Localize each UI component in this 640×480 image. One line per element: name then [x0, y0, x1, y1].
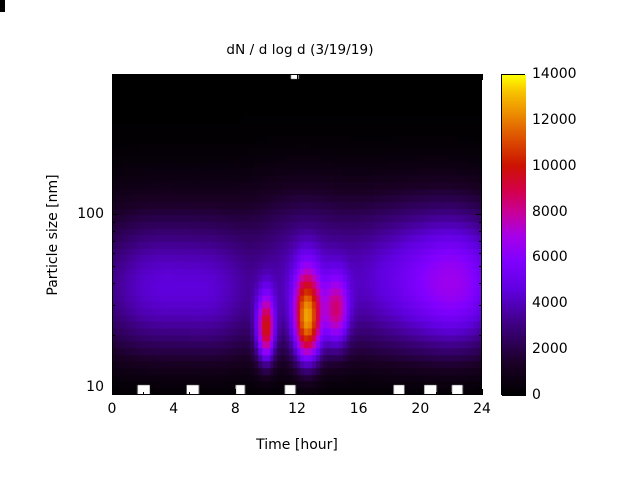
y-tick-minor-right	[479, 94, 482, 95]
y-tick-minor	[112, 132, 115, 133]
x-tick-major	[235, 389, 236, 395]
x-tick-minor	[436, 392, 437, 395]
y-axis-label: Particle size [nm]	[45, 135, 61, 335]
colorbar-tick-label: 6000	[532, 249, 568, 265]
x-tick-major	[482, 389, 483, 395]
x-tick-minor-top	[282, 74, 283, 77]
y-tick-minor	[112, 94, 115, 95]
x-tick-minor-top	[328, 74, 329, 77]
x-tick-minor-top	[374, 74, 375, 77]
x-tick-minor	[451, 392, 452, 395]
y-tick-label: 10	[60, 379, 104, 395]
y-tick-minor	[112, 222, 115, 223]
y-tick-minor	[112, 162, 115, 163]
y-tick-label: 100	[60, 206, 104, 222]
y-tick-minor-right	[479, 80, 482, 81]
heatmap-plot-area[interactable]	[112, 74, 482, 395]
colorbar-tick-label: 8000	[532, 204, 568, 220]
x-tick-minor-top	[312, 74, 313, 77]
y-tick-minor	[112, 241, 115, 242]
y-tick-major-right	[476, 387, 482, 388]
x-tick-minor-top	[220, 74, 221, 77]
x-tick-major	[174, 389, 175, 395]
y-tick-minor-right	[479, 162, 482, 163]
colorbar-tick-label: 2000	[532, 341, 568, 357]
y-tick-minor-right	[479, 222, 482, 223]
plot-title: dN / d log d (3/19/19)	[0, 42, 600, 58]
x-tick-minor	[467, 392, 468, 395]
x-tick-minor-top	[405, 74, 406, 77]
y-tick-minor-right	[479, 305, 482, 306]
x-tick-minor-top	[343, 74, 344, 77]
y-tick-minor-right	[479, 266, 482, 267]
x-tick-minor-top	[436, 74, 437, 77]
y-tick-major	[112, 387, 118, 388]
x-tick-major-top	[297, 74, 298, 80]
x-tick-major-top	[359, 74, 360, 80]
x-tick-label: 20	[411, 401, 429, 417]
x-tick-label: 4	[169, 401, 178, 417]
x-tick-minor	[127, 392, 128, 395]
x-tick-minor	[143, 392, 144, 395]
colorbar-tick-label: 12000	[532, 112, 577, 128]
y-tick-minor	[112, 110, 115, 111]
colorbar-tick-label: 14000	[532, 66, 577, 82]
x-tick-minor	[390, 392, 391, 395]
x-tick-minor	[158, 392, 159, 395]
x-tick-minor-top	[189, 74, 190, 77]
heatmap-image	[113, 75, 481, 394]
x-tick-minor	[328, 392, 329, 395]
x-axis-label: Time [hour]	[112, 437, 482, 453]
x-tick-minor	[220, 392, 221, 395]
x-tick-label: 0	[108, 401, 117, 417]
x-tick-minor-top	[143, 74, 144, 77]
x-tick-minor-top	[251, 74, 252, 77]
y-tick-minor	[112, 80, 115, 81]
y-tick-minor-right	[479, 253, 482, 254]
x-tick-major-top	[174, 74, 175, 80]
x-tick-major	[297, 389, 298, 395]
colorbar-tick-label: 4000	[532, 295, 568, 311]
y-tick-minor	[112, 305, 115, 306]
colorbar-tick-label: 0	[532, 387, 541, 403]
colorbar-tick-right	[0, 11, 5, 12]
figure-canvas: dN / d log d (3/19/19) Time [hour] Parti…	[0, 0, 640, 480]
x-tick-minor	[266, 392, 267, 395]
y-tick-minor	[112, 231, 115, 232]
colorbar-tick-label: 10000	[532, 158, 577, 174]
y-tick-minor-right	[479, 335, 482, 336]
x-tick-minor	[374, 392, 375, 395]
y-tick-minor	[112, 283, 115, 284]
x-tick-label: 8	[231, 401, 240, 417]
y-tick-minor-right	[479, 231, 482, 232]
x-tick-minor-top	[451, 74, 452, 77]
x-tick-minor	[205, 392, 206, 395]
y-tick-minor	[112, 253, 115, 254]
y-tick-major	[112, 214, 118, 215]
x-tick-minor-top	[127, 74, 128, 77]
x-tick-minor	[405, 392, 406, 395]
x-tick-label: 16	[350, 401, 368, 417]
x-tick-major	[359, 389, 360, 395]
y-tick-minor-right	[479, 110, 482, 111]
x-tick-minor-top	[158, 74, 159, 77]
x-tick-minor	[343, 392, 344, 395]
y-tick-minor-right	[479, 283, 482, 284]
x-tick-minor	[282, 392, 283, 395]
x-tick-major	[420, 389, 421, 395]
x-tick-minor-top	[266, 74, 267, 77]
x-tick-minor-top	[205, 74, 206, 77]
x-tick-minor	[251, 392, 252, 395]
y-tick-minor-right	[479, 241, 482, 242]
y-tick-major-right	[476, 214, 482, 215]
x-tick-minor	[312, 392, 313, 395]
colorbar-gradient	[502, 75, 526, 396]
x-tick-major	[112, 389, 113, 395]
x-tick-minor-top	[467, 74, 468, 77]
colorbar[interactable]	[501, 74, 525, 395]
x-tick-minor	[189, 392, 190, 395]
x-tick-major-top	[482, 74, 483, 80]
x-tick-minor-top	[390, 74, 391, 77]
y-tick-minor	[112, 335, 115, 336]
x-tick-major-top	[420, 74, 421, 80]
x-tick-label: 12	[288, 401, 306, 417]
y-tick-minor-right	[479, 132, 482, 133]
y-tick-minor	[112, 266, 115, 267]
x-tick-label: 24	[473, 401, 491, 417]
x-tick-major-top	[235, 74, 236, 80]
